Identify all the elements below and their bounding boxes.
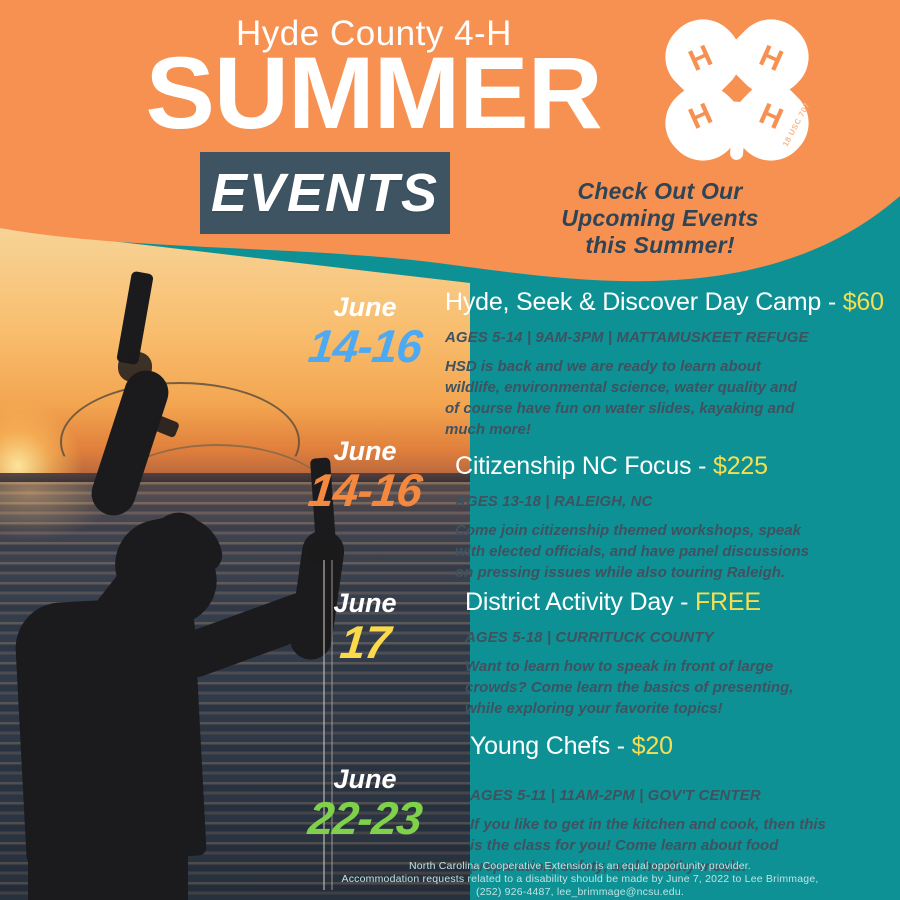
event-date: June 17 bbox=[290, 588, 440, 666]
event-days: 14-16 bbox=[287, 466, 442, 514]
event-title: Young Chefs - $20 bbox=[470, 732, 830, 761]
event-title: Citizenship NC Focus - $225 bbox=[455, 452, 815, 481]
event-days: 22-23 bbox=[287, 794, 442, 842]
clover-letter-2: H bbox=[754, 39, 788, 79]
event-info: District Activity Day - FREE AGES 5-18 |… bbox=[465, 588, 825, 719]
clover-letter-3: H bbox=[684, 97, 718, 137]
event-details: AGES 5-14 | 9AM-3PM | MATTAMUSKEET REFUG… bbox=[445, 329, 884, 346]
tagline: Check Out Our Upcoming Events this Summe… bbox=[520, 178, 800, 259]
tagline-line-3: this Summer! bbox=[520, 232, 800, 259]
event-date: June 22-23 bbox=[290, 764, 440, 842]
event-month: June bbox=[290, 764, 440, 794]
event-days: 14-16 bbox=[287, 322, 442, 370]
event-description: Want to learn how to speak in front of l… bbox=[465, 656, 825, 719]
hand-grip-left bbox=[118, 352, 152, 382]
event-price: $20 bbox=[632, 732, 673, 760]
event-month: June bbox=[290, 292, 440, 322]
event-title-text: Young Chefs - bbox=[470, 732, 632, 760]
lower-body bbox=[28, 830, 188, 900]
events-badge: EVENTS bbox=[200, 152, 450, 234]
event-description: Come join citizenship themed workshops, … bbox=[455, 520, 815, 583]
event-details: AGES 5-18 | CURRITUCK COUNTY bbox=[465, 629, 825, 646]
event-title: Hyde, Seek & Discover Day Camp - $60 bbox=[445, 288, 884, 317]
clover-letter-4: H bbox=[754, 97, 788, 137]
event-month: June bbox=[290, 588, 440, 618]
tagline-line-2: Upcoming Events bbox=[520, 205, 800, 232]
event-date: June 14-16 bbox=[290, 292, 440, 370]
footer-line-3: (252) 926-4487, lee_brimmage@ncsu.edu. bbox=[300, 886, 860, 899]
event-days: 17 bbox=[287, 618, 442, 666]
event-details: AGES 5-11 | 11AM-2PM | GOV'T CENTER bbox=[470, 787, 830, 804]
event-price: FREE bbox=[695, 588, 761, 616]
clover-letters: H H H H bbox=[662, 16, 822, 166]
event-month: June bbox=[290, 436, 440, 466]
four-h-clover-icon: H H H H 18 USC 707 bbox=[662, 16, 822, 166]
event-title-text: District Activity Day - bbox=[465, 588, 695, 616]
footer-line-1: North Carolina Cooperative Extension is … bbox=[300, 860, 860, 873]
events-badge-label: EVENTS bbox=[200, 160, 450, 226]
disclaimer-footer: North Carolina Cooperative Extension is … bbox=[300, 860, 860, 899]
event-price: $60 bbox=[843, 288, 884, 316]
footer-line-2: Accommodation requests related to a disa… bbox=[300, 873, 860, 886]
event-info: Citizenship NC Focus - $225 AGES 13-18 |… bbox=[455, 452, 815, 583]
event-price: $225 bbox=[713, 452, 768, 480]
event-details: AGES 13-18 | RALEIGH, NC bbox=[455, 493, 815, 510]
event-description: HSD is back and we are ready to learn ab… bbox=[445, 356, 805, 440]
event-date: June 14-16 bbox=[290, 436, 440, 514]
event-title-text: Hyde, Seek & Discover Day Camp - bbox=[445, 288, 843, 316]
clover-letter-1: H bbox=[684, 39, 718, 79]
page-title-text: SUMMER bbox=[146, 42, 602, 144]
event-info: Hyde, Seek & Discover Day Camp - $60 AGE… bbox=[445, 288, 884, 440]
event-title: District Activity Day - FREE bbox=[465, 588, 825, 617]
event-info: Young Chefs - $20 AGES 5-11 | 11AM-2PM |… bbox=[470, 732, 830, 877]
tagline-line-1: Check Out Our bbox=[520, 178, 800, 205]
event-title-text: Citizenship NC Focus - bbox=[455, 452, 713, 480]
torso bbox=[13, 595, 206, 864]
summer-events-poster: Hyde County 4-H SUMMER EVENTS Check Out … bbox=[0, 0, 900, 900]
